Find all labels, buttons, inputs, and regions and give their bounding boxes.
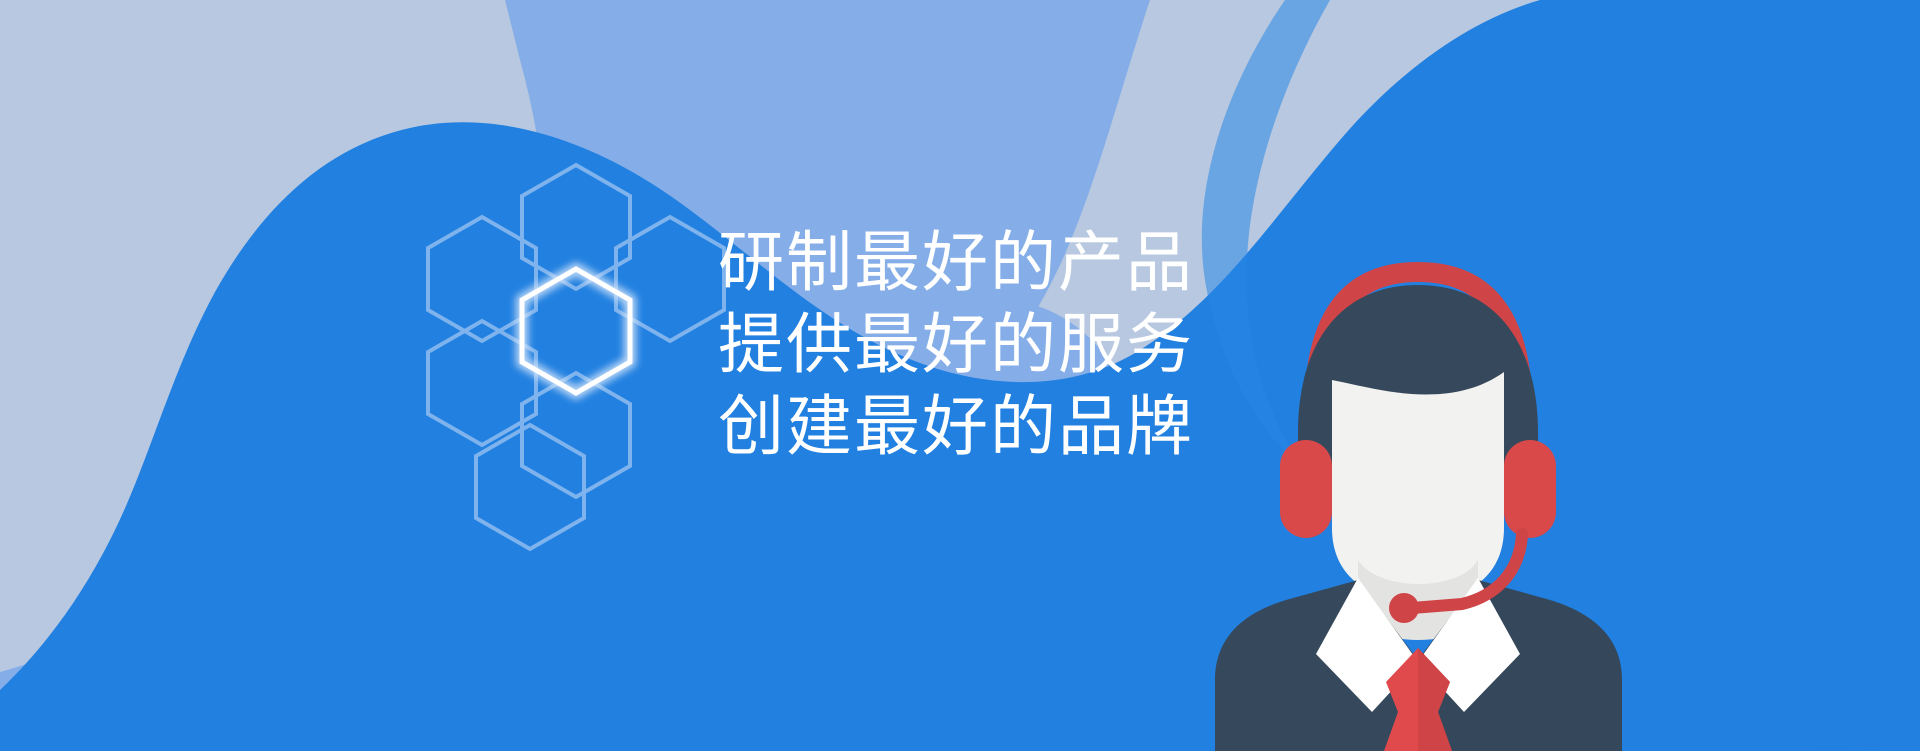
headline-block: 研制最好的产品 提供最好的服务 创建最好的品牌 xyxy=(718,222,1358,468)
hero-banner: 研制最好的产品 提供最好的服务 创建最好的品牌 xyxy=(0,0,1920,751)
headline-line-1: 研制最好的产品 xyxy=(718,222,1358,304)
headline-line-3: 创建最好的品牌 xyxy=(718,386,1358,468)
right-earcup xyxy=(1504,440,1556,538)
microphone-tip xyxy=(1389,593,1419,623)
headline-line-2: 提供最好的服务 xyxy=(718,304,1358,386)
